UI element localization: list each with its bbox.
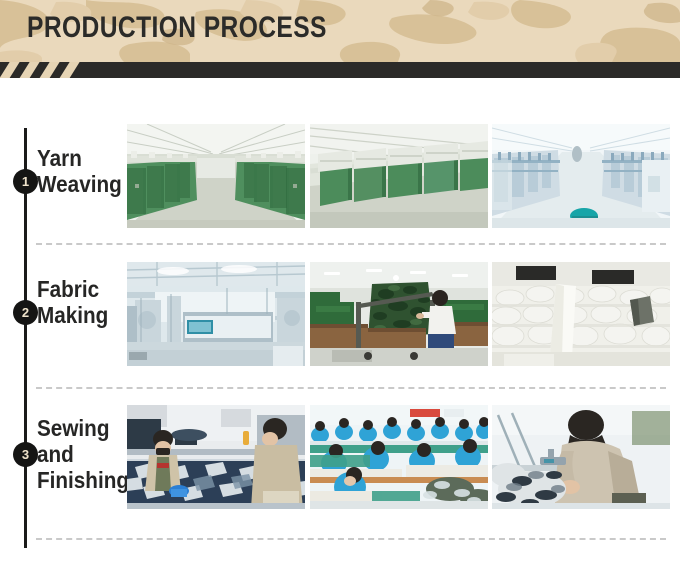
step-number-badge: 1	[13, 169, 38, 194]
process-step-sewing-and-finishing: 3 Sewing and Finishing	[0, 400, 680, 528]
photo-fabric-making-fabric-roll-warehouse	[492, 262, 670, 366]
photo-sewing-cutting-table-workers	[127, 405, 305, 509]
step-label: Yarn Weaving	[37, 145, 122, 197]
page-header: PRODUCTION PROCESS	[0, 0, 680, 62]
photo-yarn-weaving-green-machine-aisle	[127, 124, 305, 228]
section-divider	[36, 538, 666, 540]
photo-yarn-weaving-blue-spinning-mill	[492, 124, 670, 228]
photo-sewing-finishing-closeup	[492, 405, 670, 509]
photo-sewing-production-line	[310, 405, 488, 509]
slash-decoration-icon	[56, 62, 82, 78]
section-divider	[36, 387, 666, 389]
process-step-fabric-making: 2 Fabric Making	[0, 258, 680, 386]
page-title: PRODUCTION PROCESS	[27, 11, 327, 45]
header-dark-bar	[0, 62, 680, 78]
step-number-badge: 2	[13, 300, 38, 325]
slash-decoration-icon	[36, 62, 62, 78]
photo-fabric-making-weaving-looms	[127, 262, 305, 366]
step-number-badge: 3	[13, 442, 38, 467]
step-label: Sewing and Finishing	[37, 415, 129, 493]
step-label: Fabric Making	[37, 276, 108, 328]
section-divider	[36, 243, 666, 245]
process-step-yarn-weaving: 1 Yarn Weaving	[0, 118, 680, 246]
slash-decoration-icon	[16, 62, 42, 78]
photo-yarn-weaving-spinning-frames	[310, 124, 488, 228]
slash-decoration-icon	[0, 62, 22, 78]
photo-fabric-making-camo-fabric-inspection	[310, 262, 488, 366]
